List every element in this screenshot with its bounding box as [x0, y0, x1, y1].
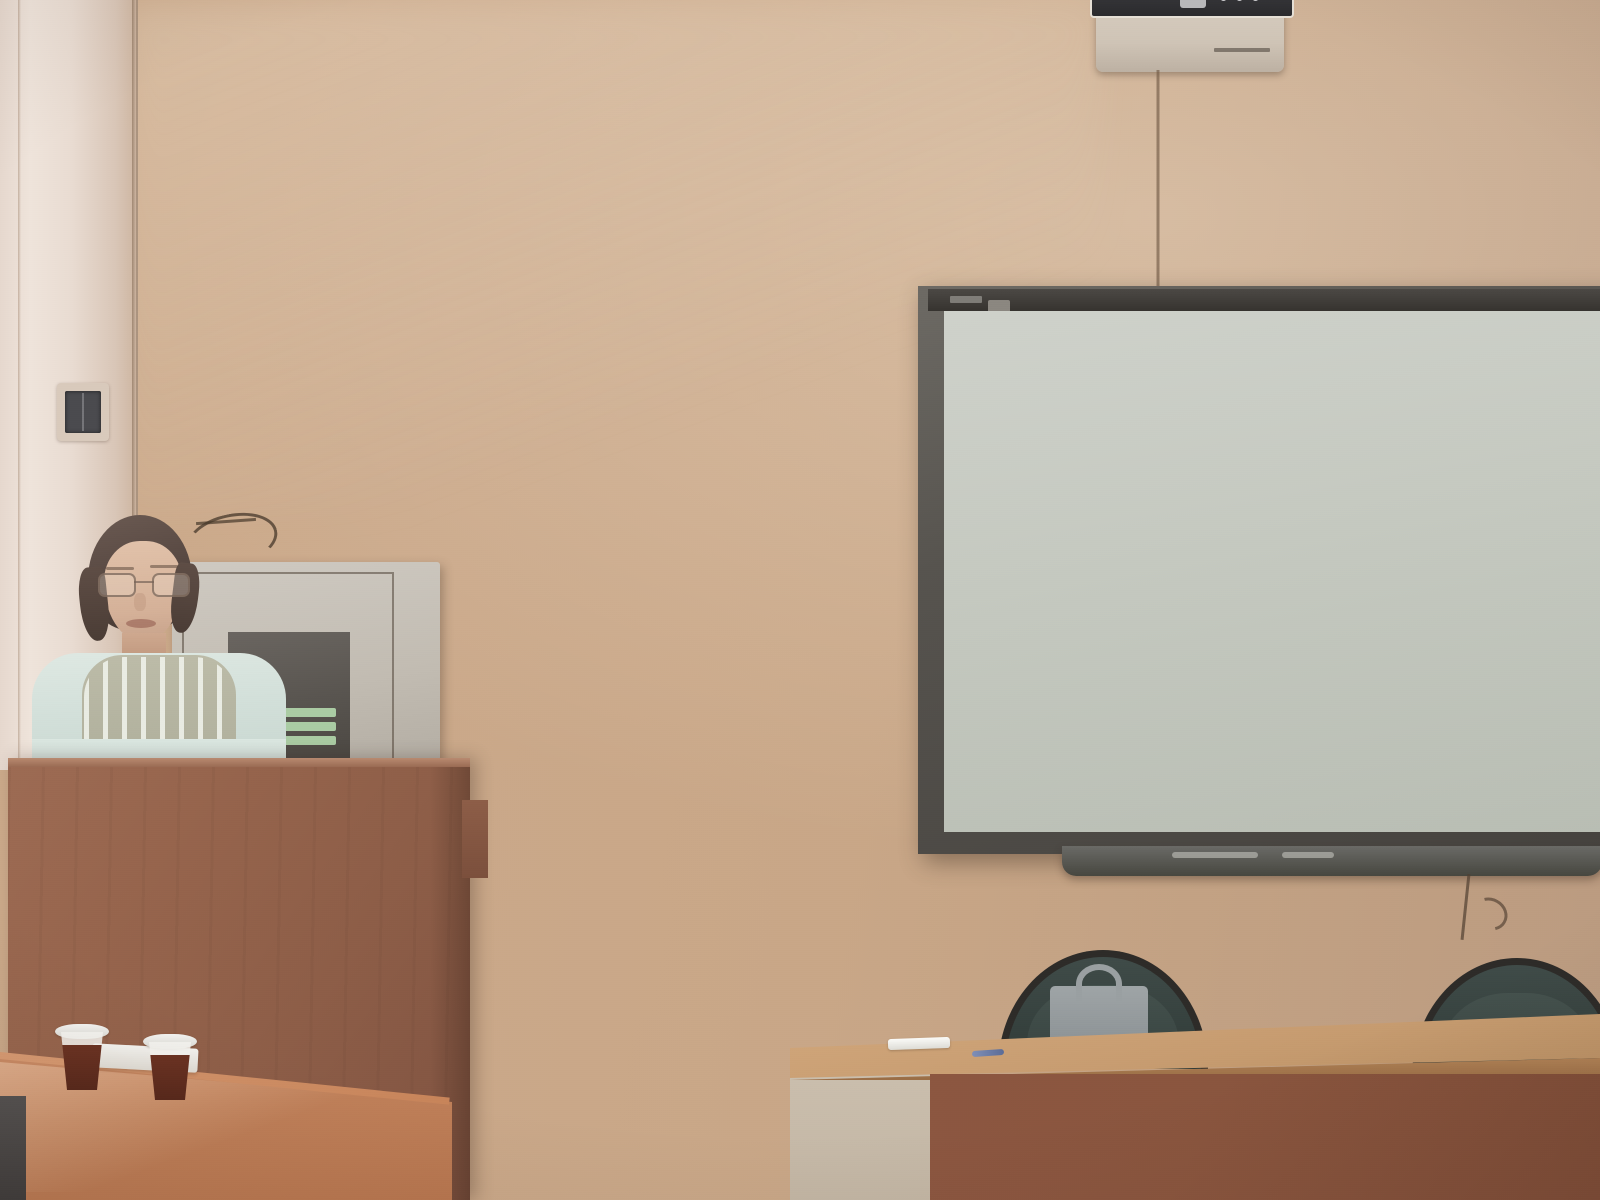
glasses-bridge — [134, 581, 154, 583]
foreground-dark-object — [0, 1096, 26, 1200]
tray-marker-slot-1 — [1172, 852, 1258, 858]
presenter-brow-left — [106, 567, 134, 570]
back-desk-front-panel — [930, 1074, 1600, 1200]
glasses-lens-right — [152, 573, 190, 597]
bag-handle — [1076, 964, 1122, 1004]
cup-right-body — [149, 1042, 191, 1100]
presenter-person — [30, 505, 290, 770]
socket-inlet-icon — [65, 391, 101, 433]
remote-control[interactable] — [888, 1037, 950, 1050]
chair-left[interactable] — [998, 950, 1194, 1036]
presenter-glasses — [98, 573, 190, 593]
projector-lens-icon — [1180, 0, 1206, 8]
projector-cable — [1156, 70, 1160, 292]
ceiling-projector-top-panel — [1090, 0, 1294, 18]
presenter-mouth — [126, 619, 156, 628]
projector-led-2-icon — [1236, 0, 1243, 1]
desk-left-wall-shadow — [790, 1066, 932, 1200]
whiteboard-brand-logo — [950, 296, 982, 303]
paper-cup-right[interactable] — [146, 1034, 194, 1100]
podium-top-edge — [8, 758, 470, 767]
glasses-lens-left — [98, 573, 136, 597]
pilaster-groove — [18, 0, 21, 770]
projector-label — [1214, 48, 1270, 52]
whiteboard-surface[interactable]: ДЕМОГРАФИЧЕСКАЯ ХАРАКТЕРИСТИКА ЛОКАЛЬНОЙ… — [944, 311, 1600, 832]
podium-side-arm — [462, 800, 488, 878]
wall-seam — [136, 0, 138, 560]
projector-led-3-icon — [1252, 0, 1259, 1]
paper-cup-left[interactable] — [58, 1024, 106, 1090]
tray-marker-slot-2 — [1282, 852, 1334, 858]
whiteboard-top-rail — [928, 289, 1600, 311]
cup-left-body — [61, 1032, 103, 1090]
wall-socket[interactable] — [57, 383, 109, 441]
whiteboard-pen-tray[interactable] — [1062, 846, 1600, 876]
projector-led-1-icon — [1220, 0, 1227, 1]
classroom-presentation-photo: ДЕМОГРАФИЧЕСКАЯ ХАРАКТЕРИСТИКА ЛОКАЛЬНОЙ… — [0, 0, 1600, 1200]
presenter-brow-right — [150, 565, 178, 568]
presenter-nose — [134, 593, 146, 611]
